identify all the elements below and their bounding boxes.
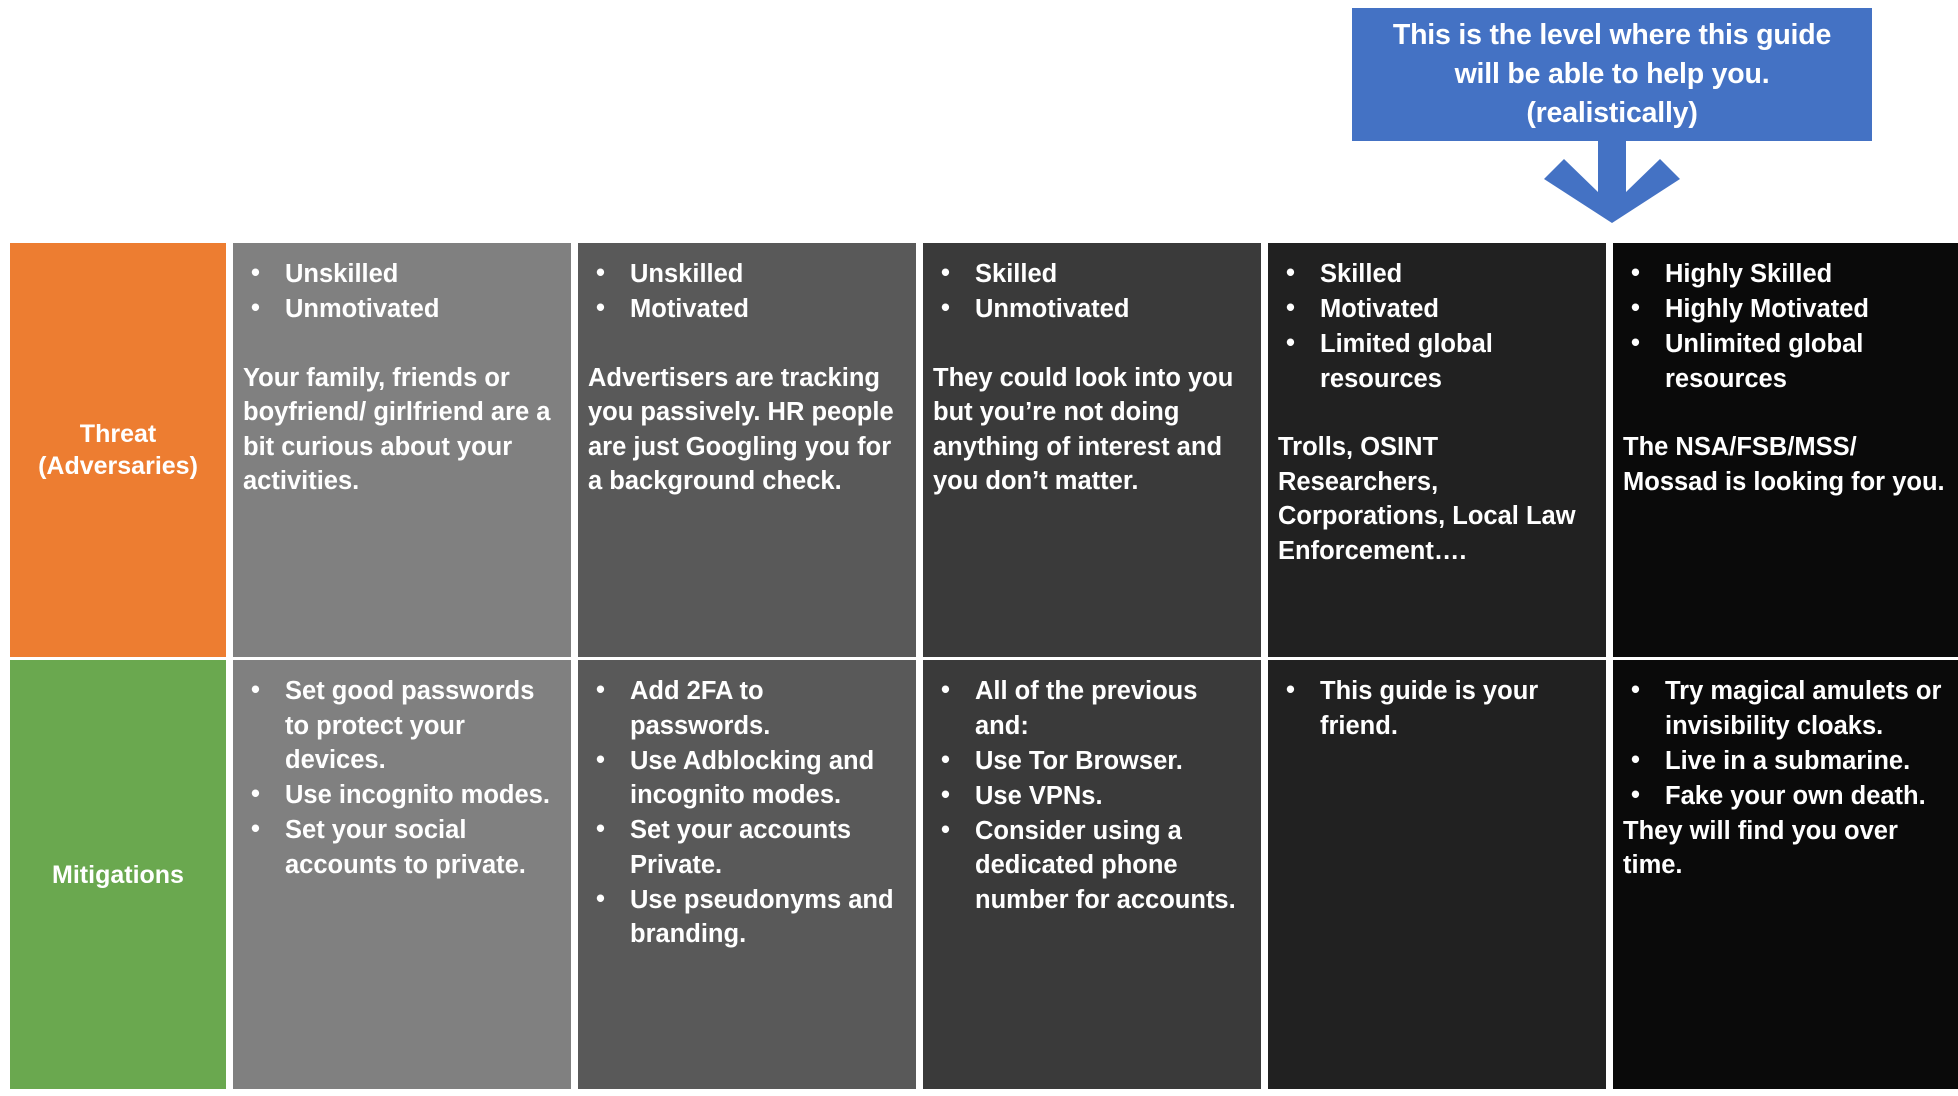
arrow-down-icon (1512, 139, 1712, 223)
threat-bullets-level-5: Highly Skilled Highly Motivated Unlimite… (1623, 257, 1957, 396)
threat-description-level-2: Advertisers are tracking you passively. … (588, 361, 902, 499)
list-item: Fake your own death. (1623, 779, 1957, 814)
list-item: This guide is your friend. (1278, 674, 1592, 743)
mitigations-cell-level-4: This guide is your friend. (1268, 660, 1606, 1089)
threat-model-matrix: Threat (Adversaries) Unskilled Unmotivat… (10, 243, 1948, 1086)
mitigations-bullets-level-3: All of the previous and: Use Tor Browser… (933, 674, 1247, 917)
threat-cell-level-1: Unskilled Unmotivated Your family, frien… (233, 243, 571, 657)
list-item: Unmotivated (243, 292, 557, 327)
threat-cell-level-3: Skilled Unmotivated They could look into… (923, 243, 1261, 657)
list-item: Unskilled (243, 257, 557, 292)
threat-cell-level-5: Highly Skilled Highly Motivated Unlimite… (1613, 243, 1958, 657)
list-item: Use pseudonyms and branding. (588, 883, 902, 952)
threat-bullets-level-3: Skilled Unmotivated (933, 257, 1247, 327)
threat-cell-level-4: Skilled Motivated Limited global resourc… (1268, 243, 1606, 657)
threat-cell-level-2: Unskilled Motivated Advertisers are trac… (578, 243, 916, 657)
list-item: Set your accounts Private. (588, 813, 902, 882)
list-item: Unskilled (588, 257, 902, 292)
threat-description-level-3: They could look into you but you’re not … (933, 361, 1247, 499)
list-item: Limited global resources (1278, 327, 1592, 396)
list-item: Set your social accounts to private. (243, 813, 557, 882)
list-item: Skilled (933, 257, 1247, 292)
callout-line-2: will be able to help you. (1455, 55, 1770, 94)
mitigations-bullets-level-1: Set good passwords to protect your devic… (243, 674, 557, 882)
row-label-mitigations-text: Mitigations (52, 859, 184, 891)
threat-description-level-4: Trolls, OSINT Researchers, Corporations,… (1278, 430, 1592, 568)
mitigations-bullets-level-5: Try magical amulets or invisibility cloa… (1623, 674, 1957, 813)
list-item: Skilled (1278, 257, 1592, 292)
threat-description-level-5: The NSA/FSB/MSS/ Mossad is looking for y… (1623, 430, 1957, 499)
callout-line-1: This is the level where this guide (1393, 16, 1831, 55)
mitigations-bullets-level-2: Add 2FA to passwords. Use Adblocking and… (588, 674, 902, 952)
list-item: Use Adblocking and incognito modes. (588, 744, 902, 813)
mitigations-cell-level-3: All of the previous and: Use Tor Browser… (923, 660, 1261, 1089)
list-item: All of the previous and: (933, 674, 1247, 743)
list-item: Unmotivated (933, 292, 1247, 327)
threat-bullets-level-1: Unskilled Unmotivated (243, 257, 557, 327)
row-label-threat-line1: Threat (38, 418, 198, 450)
callout-box: This is the level where this guide will … (1352, 8, 1872, 141)
list-item: Unlimited global resources (1623, 327, 1957, 396)
list-item: Live in a submarine. (1623, 744, 1957, 779)
list-item: Motivated (588, 292, 902, 327)
row-label-threat: Threat (Adversaries) (10, 243, 226, 657)
list-item: Try magical amulets or invisibility cloa… (1623, 674, 1957, 743)
row-label-threat-line2: (Adversaries) (38, 450, 198, 482)
mitigations-cell-level-1: Set good passwords to protect your devic… (233, 660, 571, 1089)
threat-description-level-1: Your family, friends or boyfriend/ girlf… (243, 361, 557, 499)
list-item: Highly Skilled (1623, 257, 1957, 292)
list-item: Set good passwords to protect your devic… (243, 674, 557, 778)
list-item: Consider using a dedicated phone number … (933, 814, 1247, 918)
guide-level-callout: This is the level where this guide will … (1352, 8, 1872, 223)
mitigations-cell-level-2: Add 2FA to passwords. Use Adblocking and… (578, 660, 916, 1089)
list-item: Motivated (1278, 292, 1592, 327)
callout-line-3: (realistically) (1526, 94, 1697, 133)
list-item: Use VPNs. (933, 779, 1247, 814)
list-item: Use Tor Browser. (933, 744, 1247, 779)
mitigations-bullets-level-4: This guide is your friend. (1278, 674, 1592, 743)
mitigations-note-level-5: They will find you over time. (1623, 814, 1957, 883)
threat-bullets-level-2: Unskilled Motivated (588, 257, 902, 327)
threat-bullets-level-4: Skilled Motivated Limited global resourc… (1278, 257, 1592, 396)
list-item: Highly Motivated (1623, 292, 1957, 327)
mitigations-cell-level-5: Try magical amulets or invisibility cloa… (1613, 660, 1958, 1089)
list-item: Use incognito modes. (243, 778, 557, 813)
row-label-mitigations: Mitigations (10, 660, 226, 1089)
list-item: Add 2FA to passwords. (588, 674, 902, 743)
